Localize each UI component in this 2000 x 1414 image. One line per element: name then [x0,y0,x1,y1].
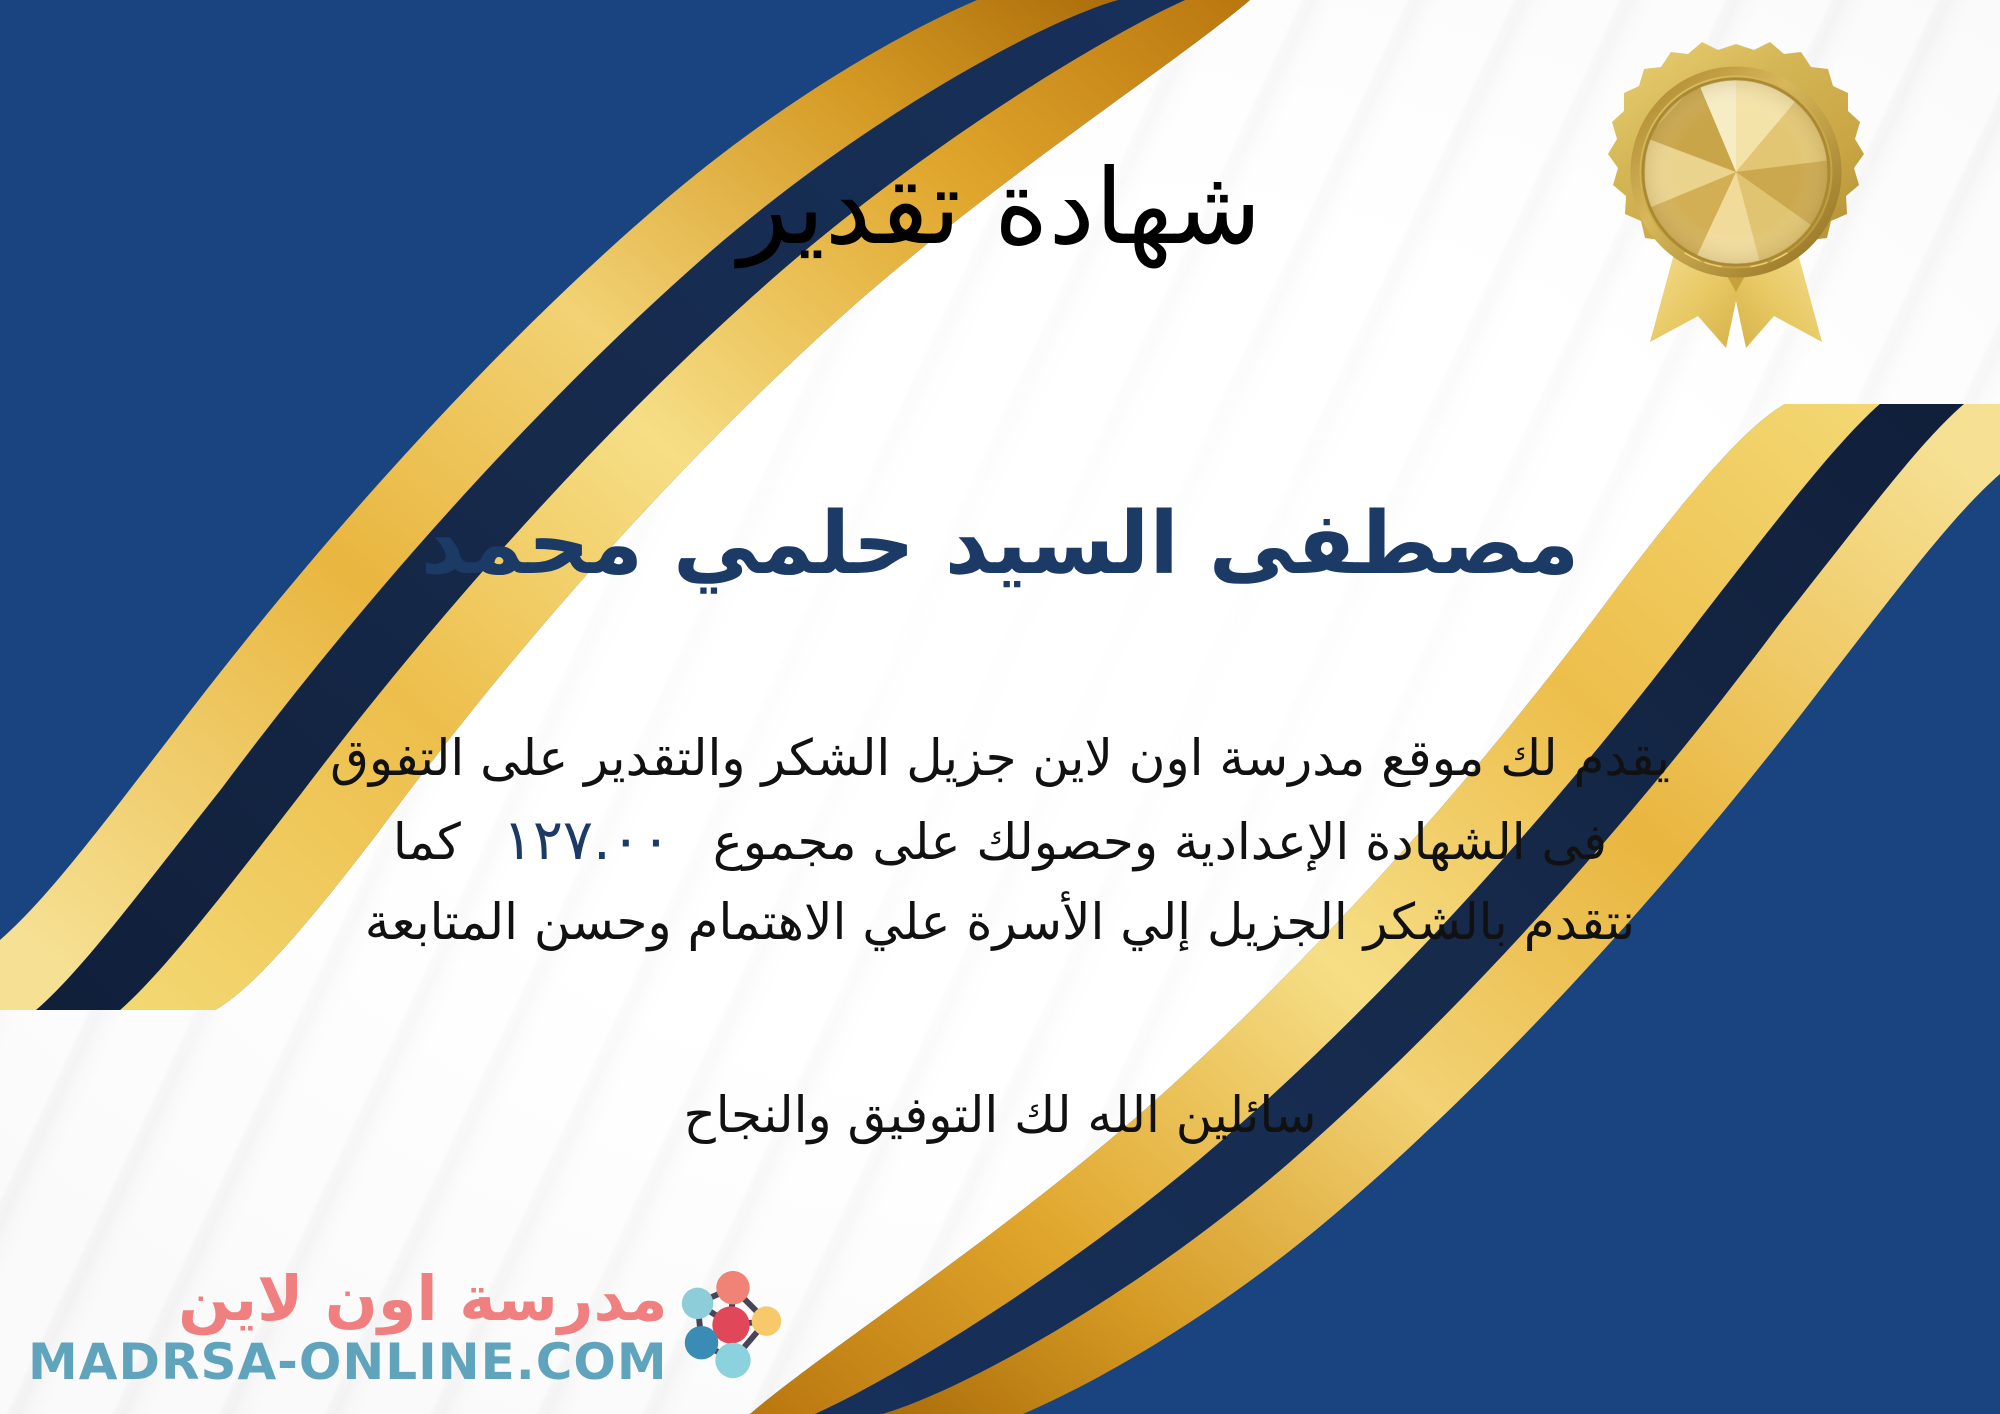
brand-logo[interactable]: مدرسة اون لاين MADRSA-ONLINE.COM [28,1264,796,1390]
certificate-page: شهادة تقدير مصطفى السيد حلمي محمد يقدم ل… [0,0,2000,1414]
score-value: ١٢٧.٠٠ [477,798,697,885]
brand-text-block: مدرسة اون لاين MADRSA-ONLINE.COM [28,1264,668,1390]
brand-arabic-name: مدرسة اون لاين [178,1264,668,1333]
certificate-title: شهادة تقدير [0,150,2000,264]
recipient-name: مصطفى السيد حلمي محمد [0,495,2000,594]
closing-wish-line: سائلين الله لك التوفيق والنجاح [0,1086,2000,1144]
network-nodes-icon [672,1266,790,1384]
body-line-3: نتقدم بالشكر الجزيل إلي الأسرة علي الاهت… [40,884,1960,962]
brand-website-url: MADRSA-ONLINE.COM [28,1335,668,1390]
body-line-1: يقدم لك موقع مدرسة اون لاين جزيل الشكر و… [40,720,1960,798]
certificate-body: يقدم لك موقع مدرسة اون لاين جزيل الشكر و… [40,720,1960,962]
body-line-2-suffix: كما [393,813,461,871]
body-line-2-prefix: فى الشهادة الإعدادية وحصولك على مجموع [713,813,1607,871]
body-line-2: فى الشهادة الإعدادية وحصولك على مجموع ١٢… [40,798,1960,885]
